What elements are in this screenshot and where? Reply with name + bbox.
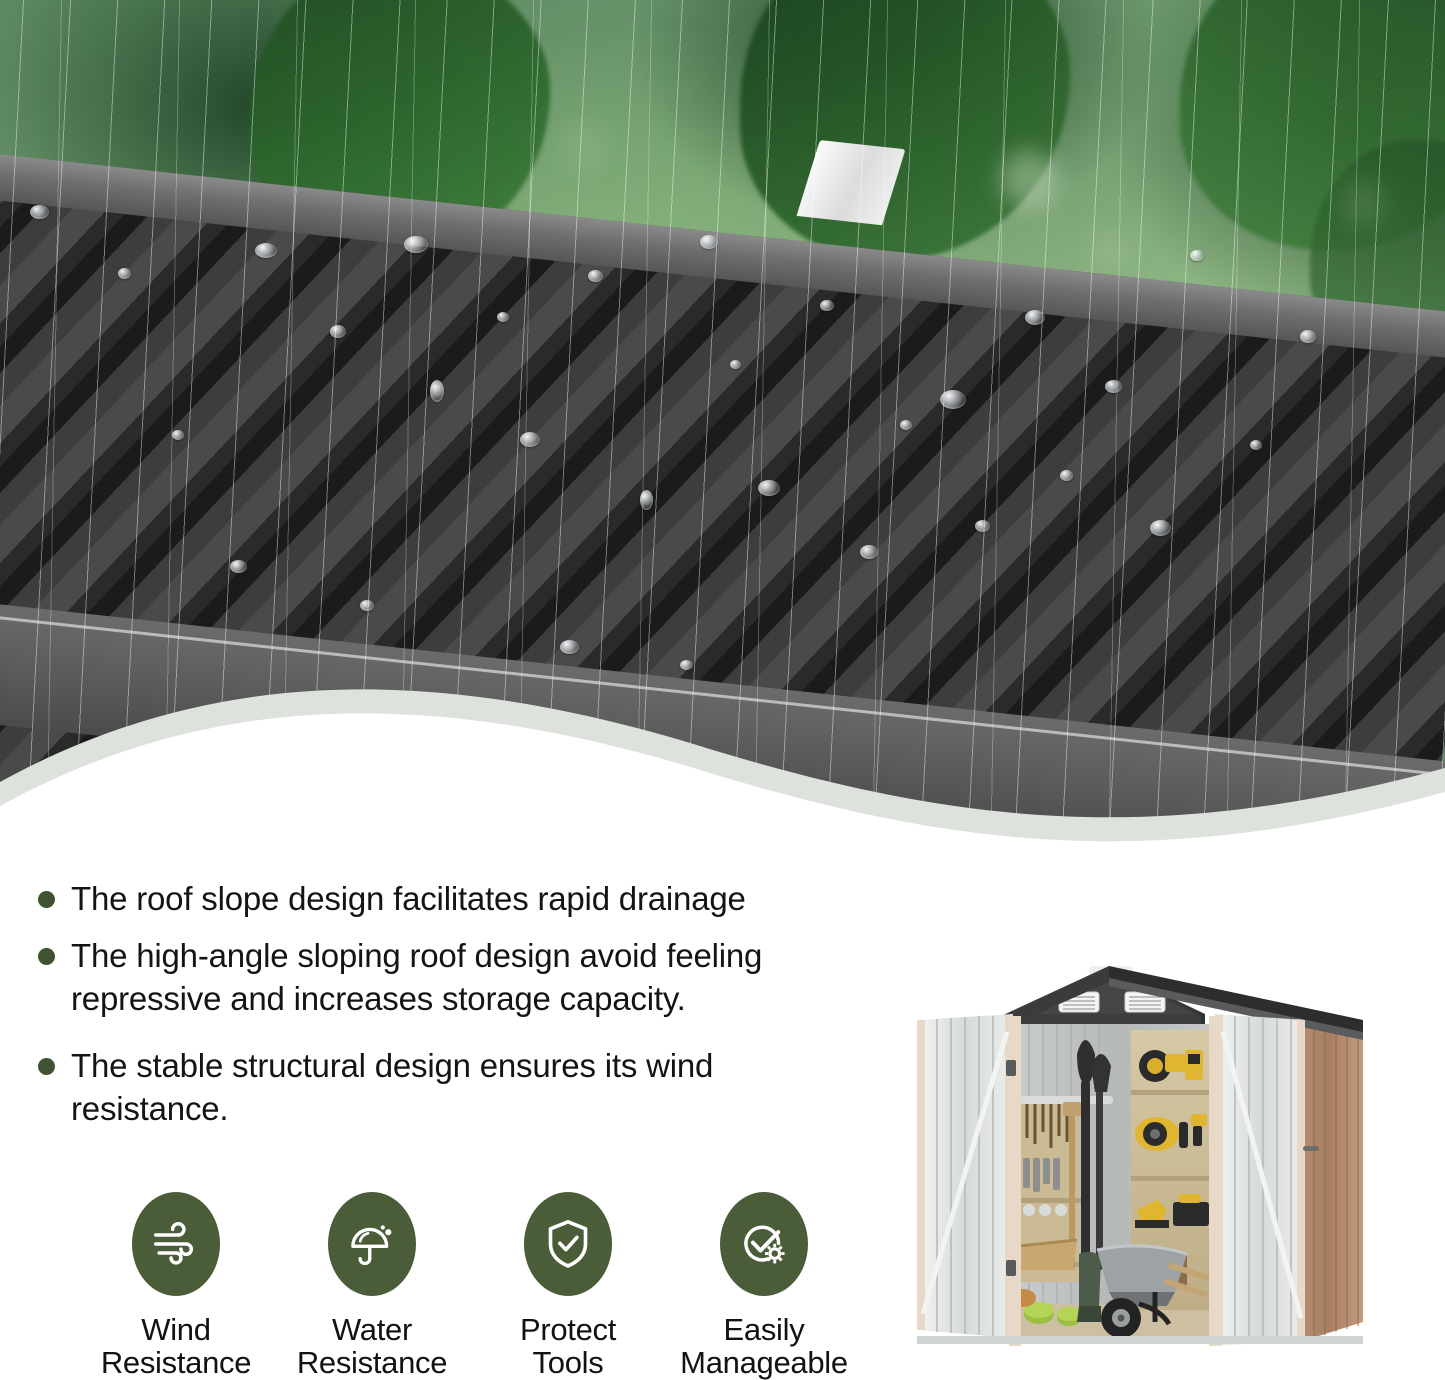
water-droplet [430, 380, 444, 402]
water-droplet [700, 235, 718, 249]
feature-label-line1: Protect [520, 1313, 616, 1346]
bokeh-5 [560, 120, 610, 170]
door-handle [1303, 1146, 1319, 1151]
water-droplet [404, 236, 428, 253]
bullet-text: The roof slope design facilitates rapid … [71, 878, 746, 921]
bullet-item: The high-angle sloping roof design avoid… [38, 935, 918, 1021]
water-droplet [1190, 250, 1204, 261]
water-droplet [230, 560, 247, 573]
water-droplet [1060, 470, 1073, 481]
umbrella-rain-icon [345, 1217, 399, 1271]
water-droplet [900, 420, 912, 430]
feature-badge-circle [328, 1192, 416, 1296]
water-droplet [975, 520, 990, 532]
feature-badge-row: Wind Resistance Water Resistance [78, 1192, 868, 1380]
water-droplet [118, 268, 131, 279]
shelf [1131, 1176, 1215, 1181]
feature-label: Water Resistance [297, 1313, 447, 1380]
wind-icon [149, 1217, 203, 1271]
water-droplet [30, 205, 49, 219]
feature-badge-circle [524, 1192, 612, 1296]
feature-label-line1: Wind [101, 1313, 251, 1346]
shed-door-right [1215, 1014, 1319, 1346]
feature-bullet-list: The roof slope design facilitates rapid … [38, 878, 918, 1144]
shield-check-icon [540, 1216, 596, 1272]
door-hinge-bottom [1006, 1260, 1016, 1276]
gear-check-icon [736, 1216, 792, 1272]
shed-door-left [917, 1014, 1016, 1338]
feature-label: Easily Manageable [680, 1313, 848, 1380]
bullet-dot-icon [38, 891, 55, 908]
feature-label: Wind Resistance [101, 1313, 251, 1380]
water-droplet [940, 390, 966, 409]
water-droplet [520, 432, 540, 447]
boots-and-apron [1077, 1252, 1101, 1322]
door-hinge-top [1006, 1060, 1016, 1076]
bullet-text: The stable structural design ensures its… [71, 1045, 731, 1131]
feature-label-line1: Water [297, 1313, 447, 1346]
feature-label-line2: Manageable [680, 1346, 848, 1379]
water-droplet [1150, 520, 1171, 536]
shed-base-rail [917, 1336, 1363, 1344]
feature-label-line2: Tools [520, 1346, 616, 1379]
feature-label-line1: Easily [680, 1313, 848, 1346]
bullet-item: The roof slope design facilitates rapid … [38, 878, 918, 921]
water-droplet [1250, 440, 1262, 450]
water-droplet [1025, 310, 1045, 325]
gear-glyph [765, 1244, 785, 1264]
hero-rain-roof-photo [0, 0, 1445, 880]
bullet-text: The high-angle sloping roof design avoid… [71, 935, 891, 1021]
feature-badge-circle [720, 1192, 808, 1296]
feature-label-line2: Resistance [297, 1346, 447, 1379]
water-droplet [588, 270, 603, 282]
water-droplet [255, 243, 277, 258]
feature-label-line2: Resistance [101, 1346, 251, 1379]
water-droplet [497, 312, 509, 322]
feature-badge-circle [132, 1192, 220, 1296]
feature-easily-manageable: Easily Manageable [666, 1192, 862, 1380]
bullet-item: The stable structural design ensures its… [38, 1045, 918, 1131]
water-droplet [820, 300, 834, 311]
water-droplet [172, 430, 184, 440]
bullet-dot-icon [38, 948, 55, 965]
water-droplet [1300, 330, 1316, 343]
water-droplet [758, 480, 780, 496]
water-droplet [330, 325, 346, 338]
water-droplet [640, 490, 653, 510]
tool-grinder [1185, 1050, 1203, 1080]
water-droplet [860, 545, 878, 559]
shelf [1131, 1090, 1215, 1095]
feature-wind-resistance: Wind Resistance [78, 1192, 274, 1380]
wire-spools [1023, 1204, 1067, 1216]
feature-protect-tools: Protect Tools [470, 1192, 666, 1380]
feature-label: Protect Tools [520, 1313, 616, 1380]
feature-water-resistance: Water Resistance [274, 1192, 470, 1380]
shed-illustration [893, 962, 1438, 1380]
wave-divider [0, 650, 1445, 880]
wicker-basket [1019, 1240, 1077, 1270]
water-droplet [360, 600, 374, 611]
water-droplet [730, 360, 741, 369]
water-droplet [1105, 380, 1122, 393]
product-feature-graphic: The roof slope design facilitates rapid … [0, 0, 1445, 1380]
product-photo-storage-shed [893, 962, 1438, 1380]
bullet-dot-icon [38, 1058, 55, 1075]
